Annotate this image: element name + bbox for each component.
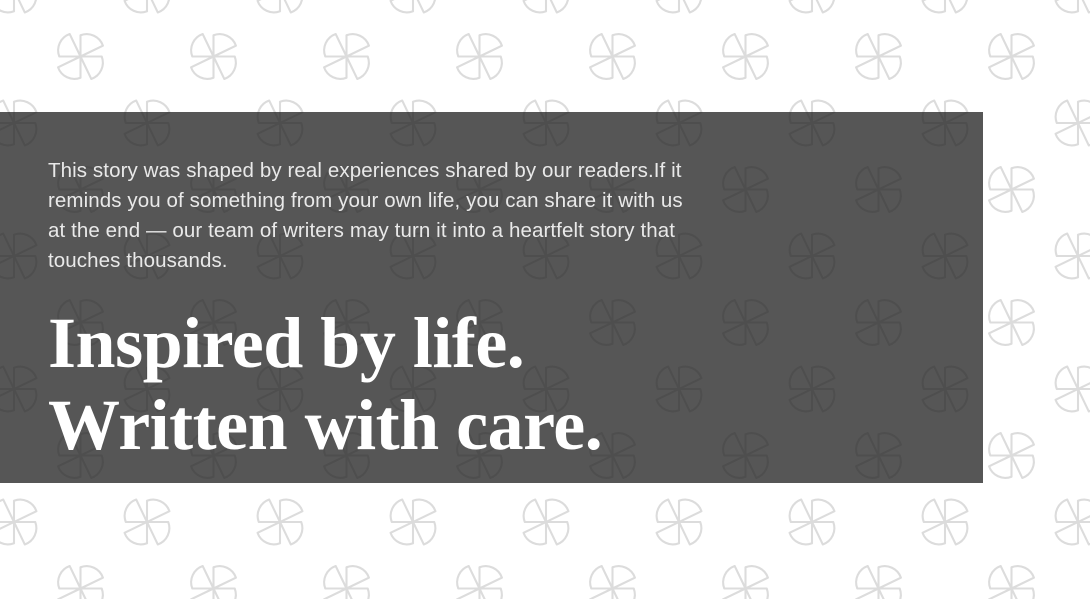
- promo-banner: This story was shaped by real experience…: [0, 0, 1090, 599]
- headline-line-2: Written with care.: [48, 384, 983, 466]
- headline-line-1: Inspired by life.: [48, 302, 983, 384]
- intro-paragraph: This story was shaped by real experience…: [48, 156, 696, 276]
- dark-content-panel: This story was shaped by real experience…: [0, 112, 983, 483]
- panel-content: This story was shaped by real experience…: [0, 112, 983, 466]
- page-title: Inspired by life. Written with care.: [48, 302, 983, 466]
